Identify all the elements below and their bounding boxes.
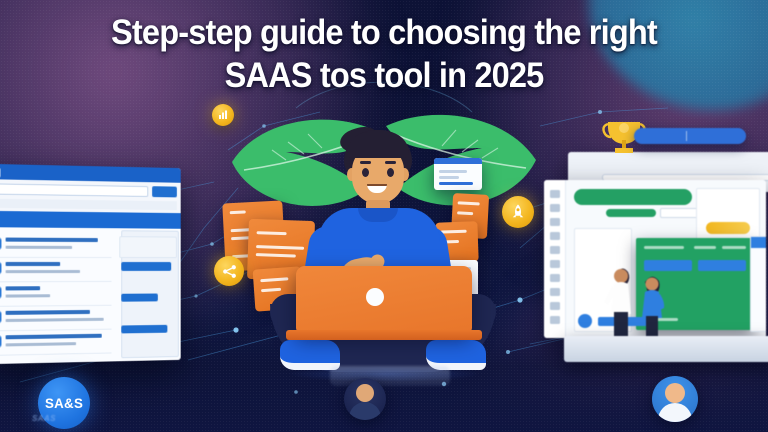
poster-canvas: Step-step guide to choosing the right SA…	[0, 0, 768, 432]
list-item-icon	[0, 262, 1, 274]
list-item-title	[6, 238, 98, 243]
person-eye-right	[387, 168, 394, 177]
list-item-title	[6, 286, 41, 290]
list-item-title	[6, 310, 90, 315]
person-eyebrow-right	[385, 161, 396, 164]
avatar-head	[356, 384, 374, 402]
right-panel-cta-button[interactable]	[606, 209, 656, 217]
saas-logo-subtext: SAAS	[32, 414, 114, 423]
person-eyebrow-left	[360, 161, 371, 164]
list-item-icon	[0, 335, 1, 347]
avatar-body	[658, 403, 692, 422]
floating-action-button[interactable]	[578, 314, 592, 328]
right-panel-sidebar[interactable]	[544, 180, 566, 338]
list-item-title	[6, 262, 61, 266]
coins-illustration	[706, 222, 750, 234]
sidebar-icon[interactable]	[550, 288, 560, 296]
person-eye-left	[362, 168, 369, 177]
rocket-badge	[502, 196, 534, 228]
sidebar-icon[interactable]	[550, 274, 560, 282]
right-panel-hero-banner	[574, 189, 692, 205]
list-item-subtitle	[6, 318, 104, 322]
chart-badge	[212, 104, 234, 126]
left-panel-subheader	[0, 199, 177, 211]
sidebar-icon[interactable]	[550, 232, 560, 240]
shoe-left	[280, 340, 340, 370]
card-line	[439, 170, 467, 173]
person-figure-left	[602, 254, 638, 338]
share-nodes-icon	[221, 263, 238, 280]
saas-logo-text: SA&S	[45, 395, 83, 411]
sidebar-icon[interactable]	[550, 302, 560, 310]
list-item-icon	[0, 311, 1, 323]
detail-column-header	[751, 237, 766, 248]
list-item-subtitle	[6, 270, 80, 273]
right-panel-detail-column[interactable]	[750, 236, 766, 332]
card-line	[439, 182, 473, 185]
board-line	[694, 246, 716, 249]
top-right-pill-buttons[interactable]	[634, 128, 746, 144]
side-primary-button[interactable]	[121, 262, 171, 271]
left-panel-section-header	[0, 211, 181, 229]
laptop[interactable]	[296, 266, 472, 332]
list-item-subtitle	[6, 342, 77, 346]
left-panel-search-button[interactable]	[152, 186, 177, 197]
sidebar-icon[interactable]	[550, 204, 560, 212]
left-dashboard-window[interactable]	[0, 164, 181, 364]
sidebar-icon[interactable]	[550, 316, 560, 324]
list-item[interactable]	[0, 233, 112, 258]
list-item[interactable]	[0, 306, 112, 332]
chart-icon	[217, 109, 229, 121]
card-line	[256, 245, 304, 250]
side-tertiary-button[interactable]	[121, 325, 167, 334]
list-item[interactable]	[0, 330, 112, 356]
side-secondary-button[interactable]	[121, 294, 158, 302]
card-line	[257, 231, 287, 235]
side-card	[119, 236, 177, 258]
title-line-2: SAAS tos tool in 2025	[72, 55, 697, 98]
left-panel-topbar	[0, 164, 181, 183]
board-line	[722, 246, 746, 249]
list-item[interactable]	[0, 282, 112, 307]
avatar-center[interactable]	[344, 378, 386, 420]
right-panel-pedestal	[564, 336, 768, 362]
card-line	[439, 176, 459, 179]
avatar-right[interactable]	[652, 376, 698, 422]
card-line	[230, 210, 246, 214]
person-figure-right	[636, 266, 668, 338]
avatar-body	[349, 402, 381, 420]
laptop-base	[286, 330, 482, 340]
title-line-1: Step-step guide to choosing the right	[72, 12, 697, 55]
left-panel-search-input[interactable]	[0, 183, 148, 197]
window-card-header	[434, 158, 482, 164]
card-line	[256, 253, 296, 257]
sidebar-icon[interactable]	[550, 218, 560, 226]
avatar-head	[665, 383, 685, 403]
rocket-icon	[509, 203, 527, 221]
card-line	[260, 277, 288, 282]
sidebar-icon[interactable]	[550, 246, 560, 254]
sidebar-icon[interactable]	[550, 260, 560, 268]
person-hair-front	[347, 132, 409, 158]
right-dashboard-window[interactable]	[544, 152, 768, 367]
page-title: Step-step guide to choosing the right SA…	[0, 12, 768, 97]
hero-illustration	[240, 108, 530, 386]
list-item[interactable]	[0, 258, 112, 283]
right-panel-app-window	[544, 180, 766, 338]
board-button[interactable]	[698, 260, 746, 271]
card-line	[261, 288, 281, 292]
list-item-subtitle	[6, 246, 73, 249]
list-item-subtitle	[6, 294, 51, 297]
list-item-icon	[0, 286, 1, 298]
floating-window-card	[434, 158, 482, 190]
list-item-title	[6, 334, 102, 340]
board-line	[644, 246, 684, 249]
card-line	[457, 211, 473, 215]
card-line	[441, 230, 467, 234]
laptop-logo-icon	[366, 288, 384, 306]
list-item-icon	[0, 237, 1, 249]
card-line	[458, 201, 480, 205]
sidebar-icon[interactable]	[550, 190, 560, 198]
share-nodes-badge	[214, 256, 244, 286]
bottom-surface-highlight	[330, 366, 450, 386]
